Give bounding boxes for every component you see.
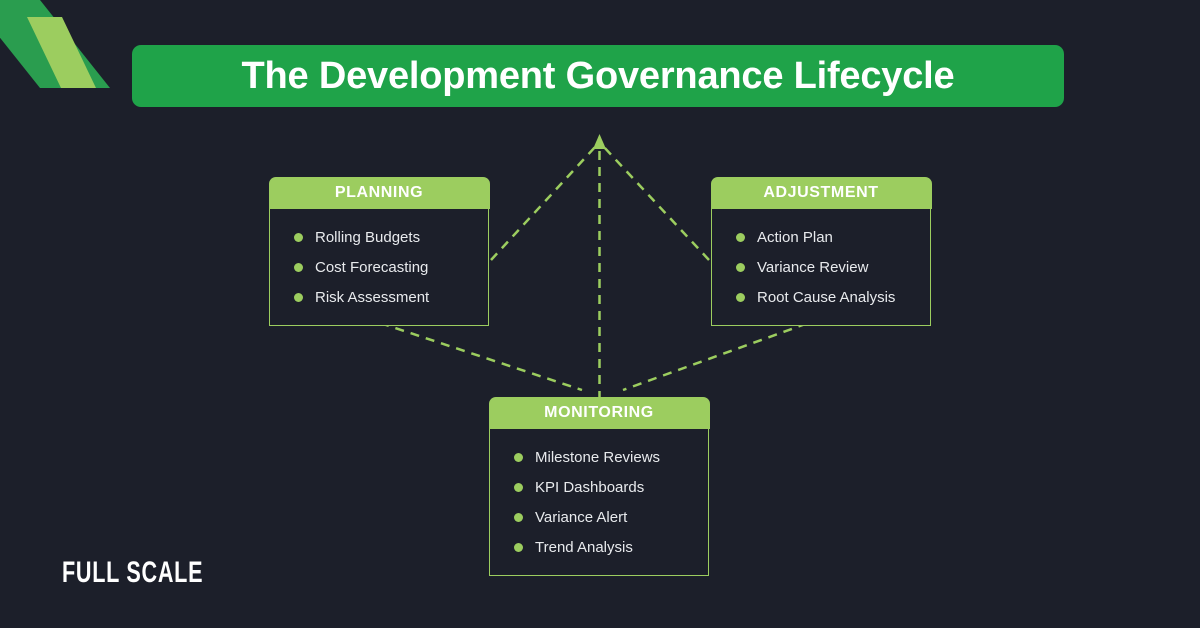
- title-banner: The Development Governance Lifecycle: [132, 45, 1064, 107]
- brand-logo: FULL SCALE: [62, 556, 258, 590]
- bullet-dot-icon: [514, 513, 523, 522]
- card-adjustment-header: ADJUSTMENT: [711, 177, 932, 209]
- list-item: Milestone Reviews: [490, 443, 708, 473]
- card-monitoring: MONITORING Milestone Reviews KPI Dashboa…: [489, 397, 709, 576]
- bullet-dot-icon: [294, 263, 303, 272]
- card-planning-header: PLANNING: [269, 177, 490, 209]
- connector-adjustment-to-apex: [603, 146, 709, 260]
- arrow-up-icon: [593, 134, 606, 149]
- corner-shape-front-icon: [27, 17, 96, 88]
- card-monitoring-title: MONITORING: [544, 404, 654, 422]
- list-item: Rolling Budgets: [270, 223, 488, 253]
- brand-name: FULL SCALE: [62, 556, 203, 590]
- list-item-label: Variance Alert: [535, 509, 627, 526]
- list-item-label: Cost Forecasting: [315, 259, 428, 276]
- list-item-label: Rolling Budgets: [315, 229, 420, 246]
- list-item-label: Action Plan: [757, 229, 833, 246]
- list-item: Action Plan: [712, 223, 930, 253]
- list-item-label: Variance Review: [757, 259, 868, 276]
- corner-shape-back-icon: [0, 0, 110, 88]
- bullet-dot-icon: [736, 293, 745, 302]
- list-item: Variance Review: [712, 253, 930, 283]
- connector-planning-to-apex: [491, 146, 596, 260]
- bullet-dot-icon: [736, 263, 745, 272]
- card-monitoring-body: Milestone Reviews KPI Dashboards Varianc…: [490, 429, 708, 575]
- bullet-dot-icon: [514, 453, 523, 462]
- list-item: Root Cause Analysis: [712, 283, 930, 313]
- list-item-label: KPI Dashboards: [535, 479, 644, 496]
- bullet-dot-icon: [294, 233, 303, 242]
- list-item: Variance Alert: [490, 503, 708, 533]
- bullet-dot-icon: [294, 293, 303, 302]
- card-adjustment-body: Action Plan Variance Review Root Cause A…: [712, 209, 930, 325]
- bullet-dot-icon: [514, 483, 523, 492]
- list-item: Risk Assessment: [270, 283, 488, 313]
- card-adjustment: ADJUSTMENT Action Plan Variance Review R…: [711, 177, 931, 326]
- connector-adjustment-to-monitoring: [623, 318, 822, 390]
- card-adjustment-title: ADJUSTMENT: [763, 184, 878, 202]
- list-item-label: Milestone Reviews: [535, 449, 660, 466]
- card-planning-body: Rolling Budgets Cost Forecasting Risk As…: [270, 209, 488, 325]
- list-item: Cost Forecasting: [270, 253, 488, 283]
- list-item: KPI Dashboards: [490, 473, 708, 503]
- list-item: Trend Analysis: [490, 533, 708, 563]
- list-item-label: Risk Assessment: [315, 289, 429, 306]
- card-monitoring-header: MONITORING: [489, 397, 710, 429]
- list-item-label: Trend Analysis: [535, 539, 633, 556]
- list-item-label: Root Cause Analysis: [757, 289, 895, 306]
- corner-decoration: [0, 0, 110, 100]
- card-planning: PLANNING Rolling Budgets Cost Forecastin…: [269, 177, 489, 326]
- bullet-dot-icon: [736, 233, 745, 242]
- bullet-dot-icon: [514, 543, 523, 552]
- page-title: The Development Governance Lifecycle: [242, 55, 955, 98]
- connector-planning-to-monitoring: [365, 318, 582, 390]
- card-planning-title: PLANNING: [335, 184, 423, 202]
